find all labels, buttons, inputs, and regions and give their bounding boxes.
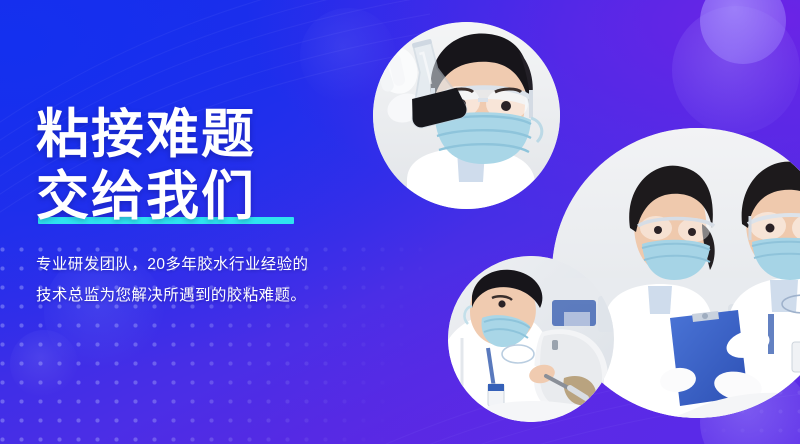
headline-line-1: 粘接难题 xyxy=(36,104,366,166)
headline-line-2-wrap: 交给我们 xyxy=(36,166,366,228)
subtitle-line-2: 技术总监为您解决所遇到的胶粘难题。 xyxy=(36,281,366,310)
photo-scientist-with-flask xyxy=(373,22,560,209)
scientist-flask-illustration xyxy=(373,22,560,209)
technician-equipment-illustration xyxy=(448,256,614,422)
promo-banner: 粘接难题 交给我们 专业研发团队，20多年胶水行业经验的 技术总监为您解决所遇到… xyxy=(0,0,800,444)
photo-technician-at-equipment xyxy=(448,256,614,422)
headline-line-2: 交给我们 xyxy=(36,167,256,226)
subtitle-line-1: 专业研发团队，20多年胶水行业经验的 xyxy=(36,250,366,279)
banner-copy: 粘接难题 交给我们 专业研发团队，20多年胶水行业经验的 技术总监为您解决所遇到… xyxy=(36,104,366,310)
